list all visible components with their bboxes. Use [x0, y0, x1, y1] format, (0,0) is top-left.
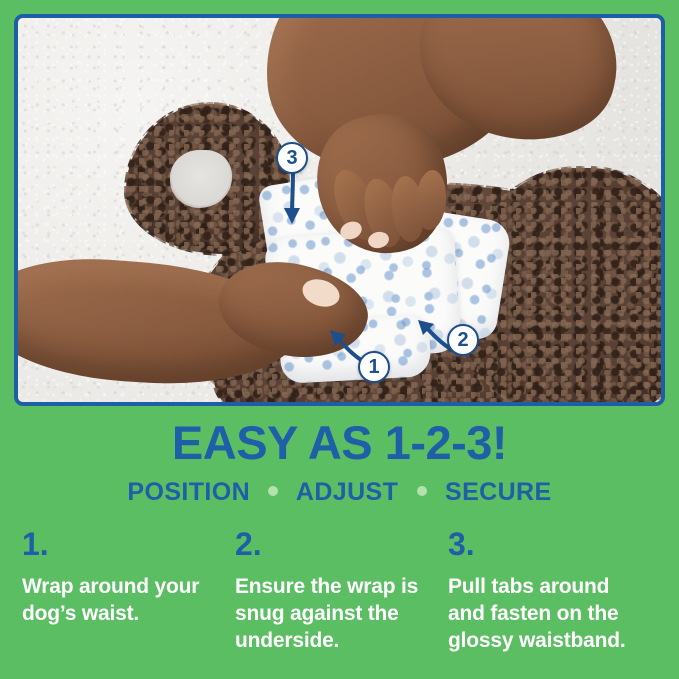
- photo-frame: 3 1 2: [14, 14, 665, 406]
- bullet-dot-icon: [268, 486, 278, 496]
- bullet-dot-icon: [417, 486, 427, 496]
- step-item-2: 2. Ensure the wrap is snug against the u…: [235, 527, 448, 654]
- step-text-1: Wrap around your dog’s waist.: [22, 573, 217, 627]
- infographic-page: 3 1 2 EASY AS 1-2-3! POSITION ADJUST SEC…: [0, 0, 679, 679]
- subtitle-part-position: POSITION: [127, 478, 250, 506]
- step-number-2: 2.: [235, 527, 430, 561]
- steps-list: 1. Wrap around your dog’s waist. 2. Ensu…: [22, 527, 662, 654]
- subtitle-part-adjust: ADJUST: [296, 478, 398, 506]
- step-item-1: 1. Wrap around your dog’s waist.: [22, 527, 235, 654]
- step-text-3: Pull tabs around and fasten on the gloss…: [448, 573, 643, 654]
- headline-subtitle: POSITION ADJUST SECURE: [0, 478, 679, 506]
- instruction-photo: 3 1 2: [18, 18, 661, 402]
- subtitle-part-secure: SECURE: [445, 478, 552, 506]
- callout-badge-1: 1: [358, 351, 390, 383]
- step-text-2: Ensure the wrap is snug against the unde…: [235, 573, 430, 654]
- step-item-3: 3. Pull tabs around and fasten on the gl…: [448, 527, 661, 654]
- headline-title: EASY AS 1-2-3!: [0, 418, 679, 468]
- step-number-3: 3.: [448, 527, 643, 561]
- callout-badge-2: 2: [447, 324, 479, 356]
- callout-badge-3: 3: [276, 142, 308, 174]
- callout-arrow-down-icon: [276, 168, 316, 232]
- step-number-1: 1.: [22, 527, 217, 561]
